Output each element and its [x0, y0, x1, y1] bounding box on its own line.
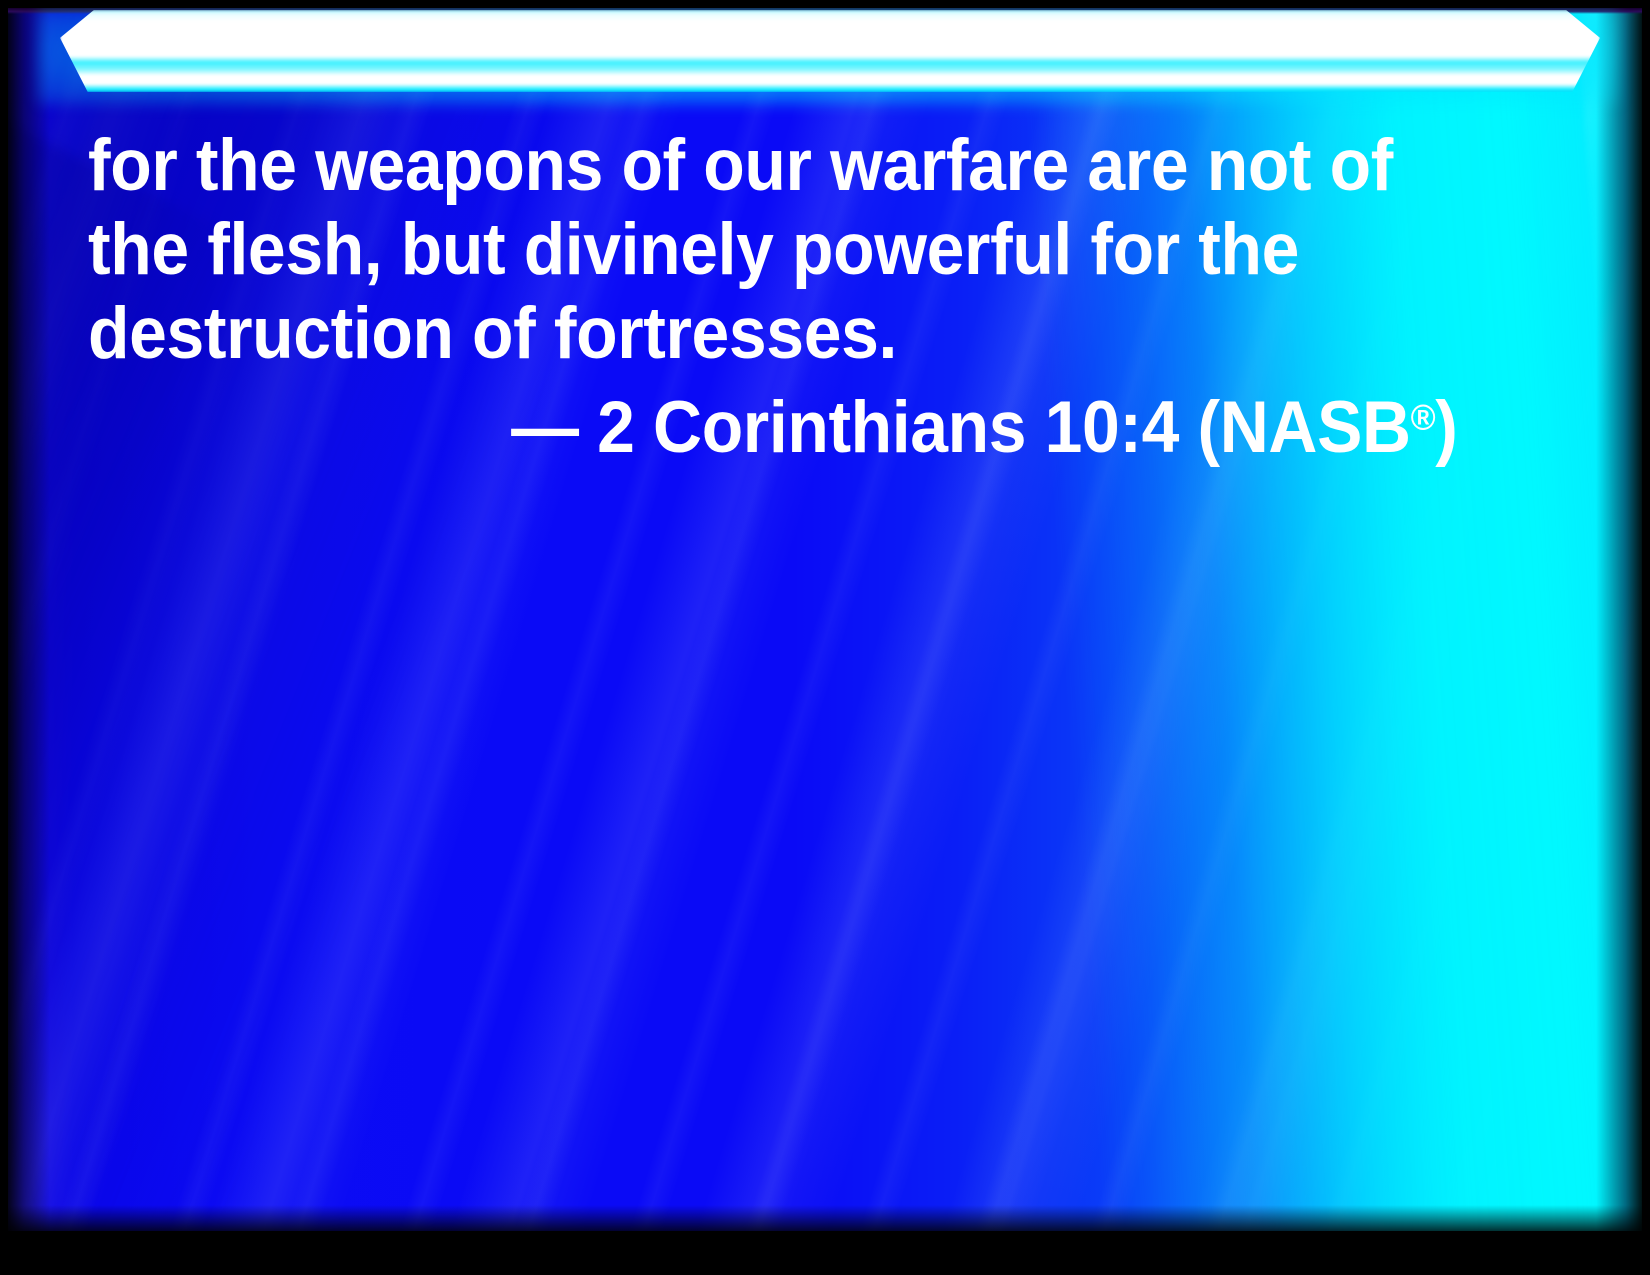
verse-attribution: — 2 Corinthians 10:4 (NASB®): [88, 386, 1455, 470]
verse-text-block: for the weapons of our warfare are not o…: [88, 124, 1558, 470]
background-left-vignette: [8, 8, 50, 1231]
attribution-em-dash: —: [511, 387, 579, 468]
attribution-chapter-verse: 10:4: [1045, 387, 1179, 468]
header-banner: [60, 10, 1600, 92]
slide-canvas: for the weapons of our warfare are not o…: [8, 8, 1642, 1231]
verse-slide: for the weapons of our warfare are not o…: [0, 0, 1650, 1275]
attribution-open-paren: (: [1198, 387, 1220, 468]
attribution-translation: NASB: [1220, 387, 1411, 468]
verse-line-1: for the weapons of our warfare are not o…: [88, 124, 1455, 208]
verse-line-3: destruction of fortresses.: [88, 292, 1455, 376]
attribution-book: 2 Corinthians: [597, 387, 1026, 468]
attribution-close-paren: ): [1435, 387, 1457, 468]
background-bottom-vignette: [8, 1205, 1642, 1231]
verse-line-2: the flesh, but divinely powerful for the: [88, 208, 1455, 292]
background-right-vignette: [1596, 8, 1642, 1231]
registered-trademark-icon: ®: [1411, 396, 1436, 437]
